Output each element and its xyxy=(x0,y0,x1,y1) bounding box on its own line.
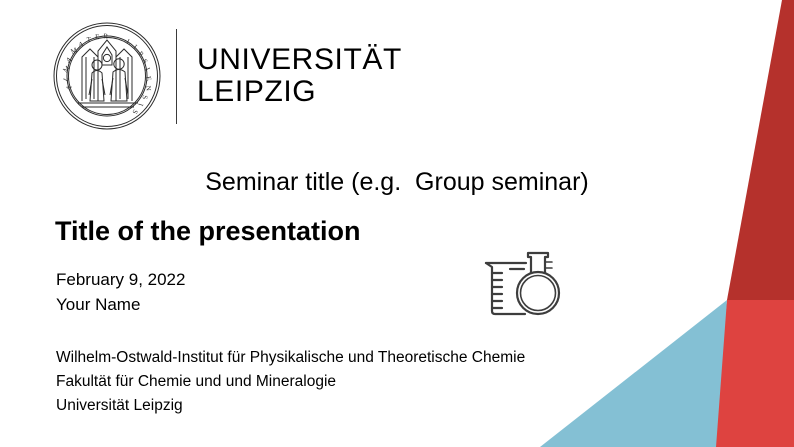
wordmark-line-universitaet: UNIVERSITÄT xyxy=(197,44,402,76)
svg-text:L: L xyxy=(62,75,71,83)
presentation-slide: A L M A M A T E R L I P S I E N S I S xyxy=(0,0,794,447)
bright-red-triangle xyxy=(711,300,794,447)
presenter-name: Your Name xyxy=(56,293,185,318)
svg-text:R: R xyxy=(103,32,109,41)
affiliation-faculty: Fakultät für Chemie und und Mineralogie xyxy=(56,370,525,394)
university-logo: A L M A M A T E R L I P S I E N S I S xyxy=(52,16,352,136)
svg-text:L: L xyxy=(125,38,132,47)
presentation-meta: February 9, 2022 Your Name xyxy=(56,268,185,317)
svg-text:M: M xyxy=(62,64,73,75)
svg-text:E: E xyxy=(95,33,100,41)
university-wordmark: UNIVERSITÄT LEIPZIG xyxy=(197,44,402,108)
svg-text:N: N xyxy=(144,85,152,91)
svg-text:I: I xyxy=(136,102,145,107)
beaker-and-flask-icon xyxy=(480,249,566,319)
blue-triangle xyxy=(540,300,727,447)
affiliation-institute: Wilhelm-Ostwald-Institut für Physikalisc… xyxy=(56,346,525,370)
dark-red-triangle xyxy=(727,0,794,300)
seminar-title: Seminar title (e.g. Group seminar) xyxy=(0,168,794,197)
svg-text:A: A xyxy=(64,84,73,91)
affiliation-university: Universität Leipzig xyxy=(56,394,525,418)
university-seal-icon: A L M A M A T E R L I P S I E N S I S xyxy=(52,21,162,131)
affiliation-block: Wilhelm-Ostwald-Institut für Physikalisc… xyxy=(56,346,525,418)
presentation-title: Title of the presentation xyxy=(55,216,361,247)
svg-text:E: E xyxy=(144,75,153,81)
wordmark-line-leipzig: LEIPZIG xyxy=(197,76,402,108)
svg-text:S: S xyxy=(141,95,149,100)
logo-divider xyxy=(176,29,177,124)
presentation-date: February 9, 2022 xyxy=(56,268,185,293)
svg-text:S: S xyxy=(130,108,139,115)
svg-text:A: A xyxy=(78,40,85,49)
